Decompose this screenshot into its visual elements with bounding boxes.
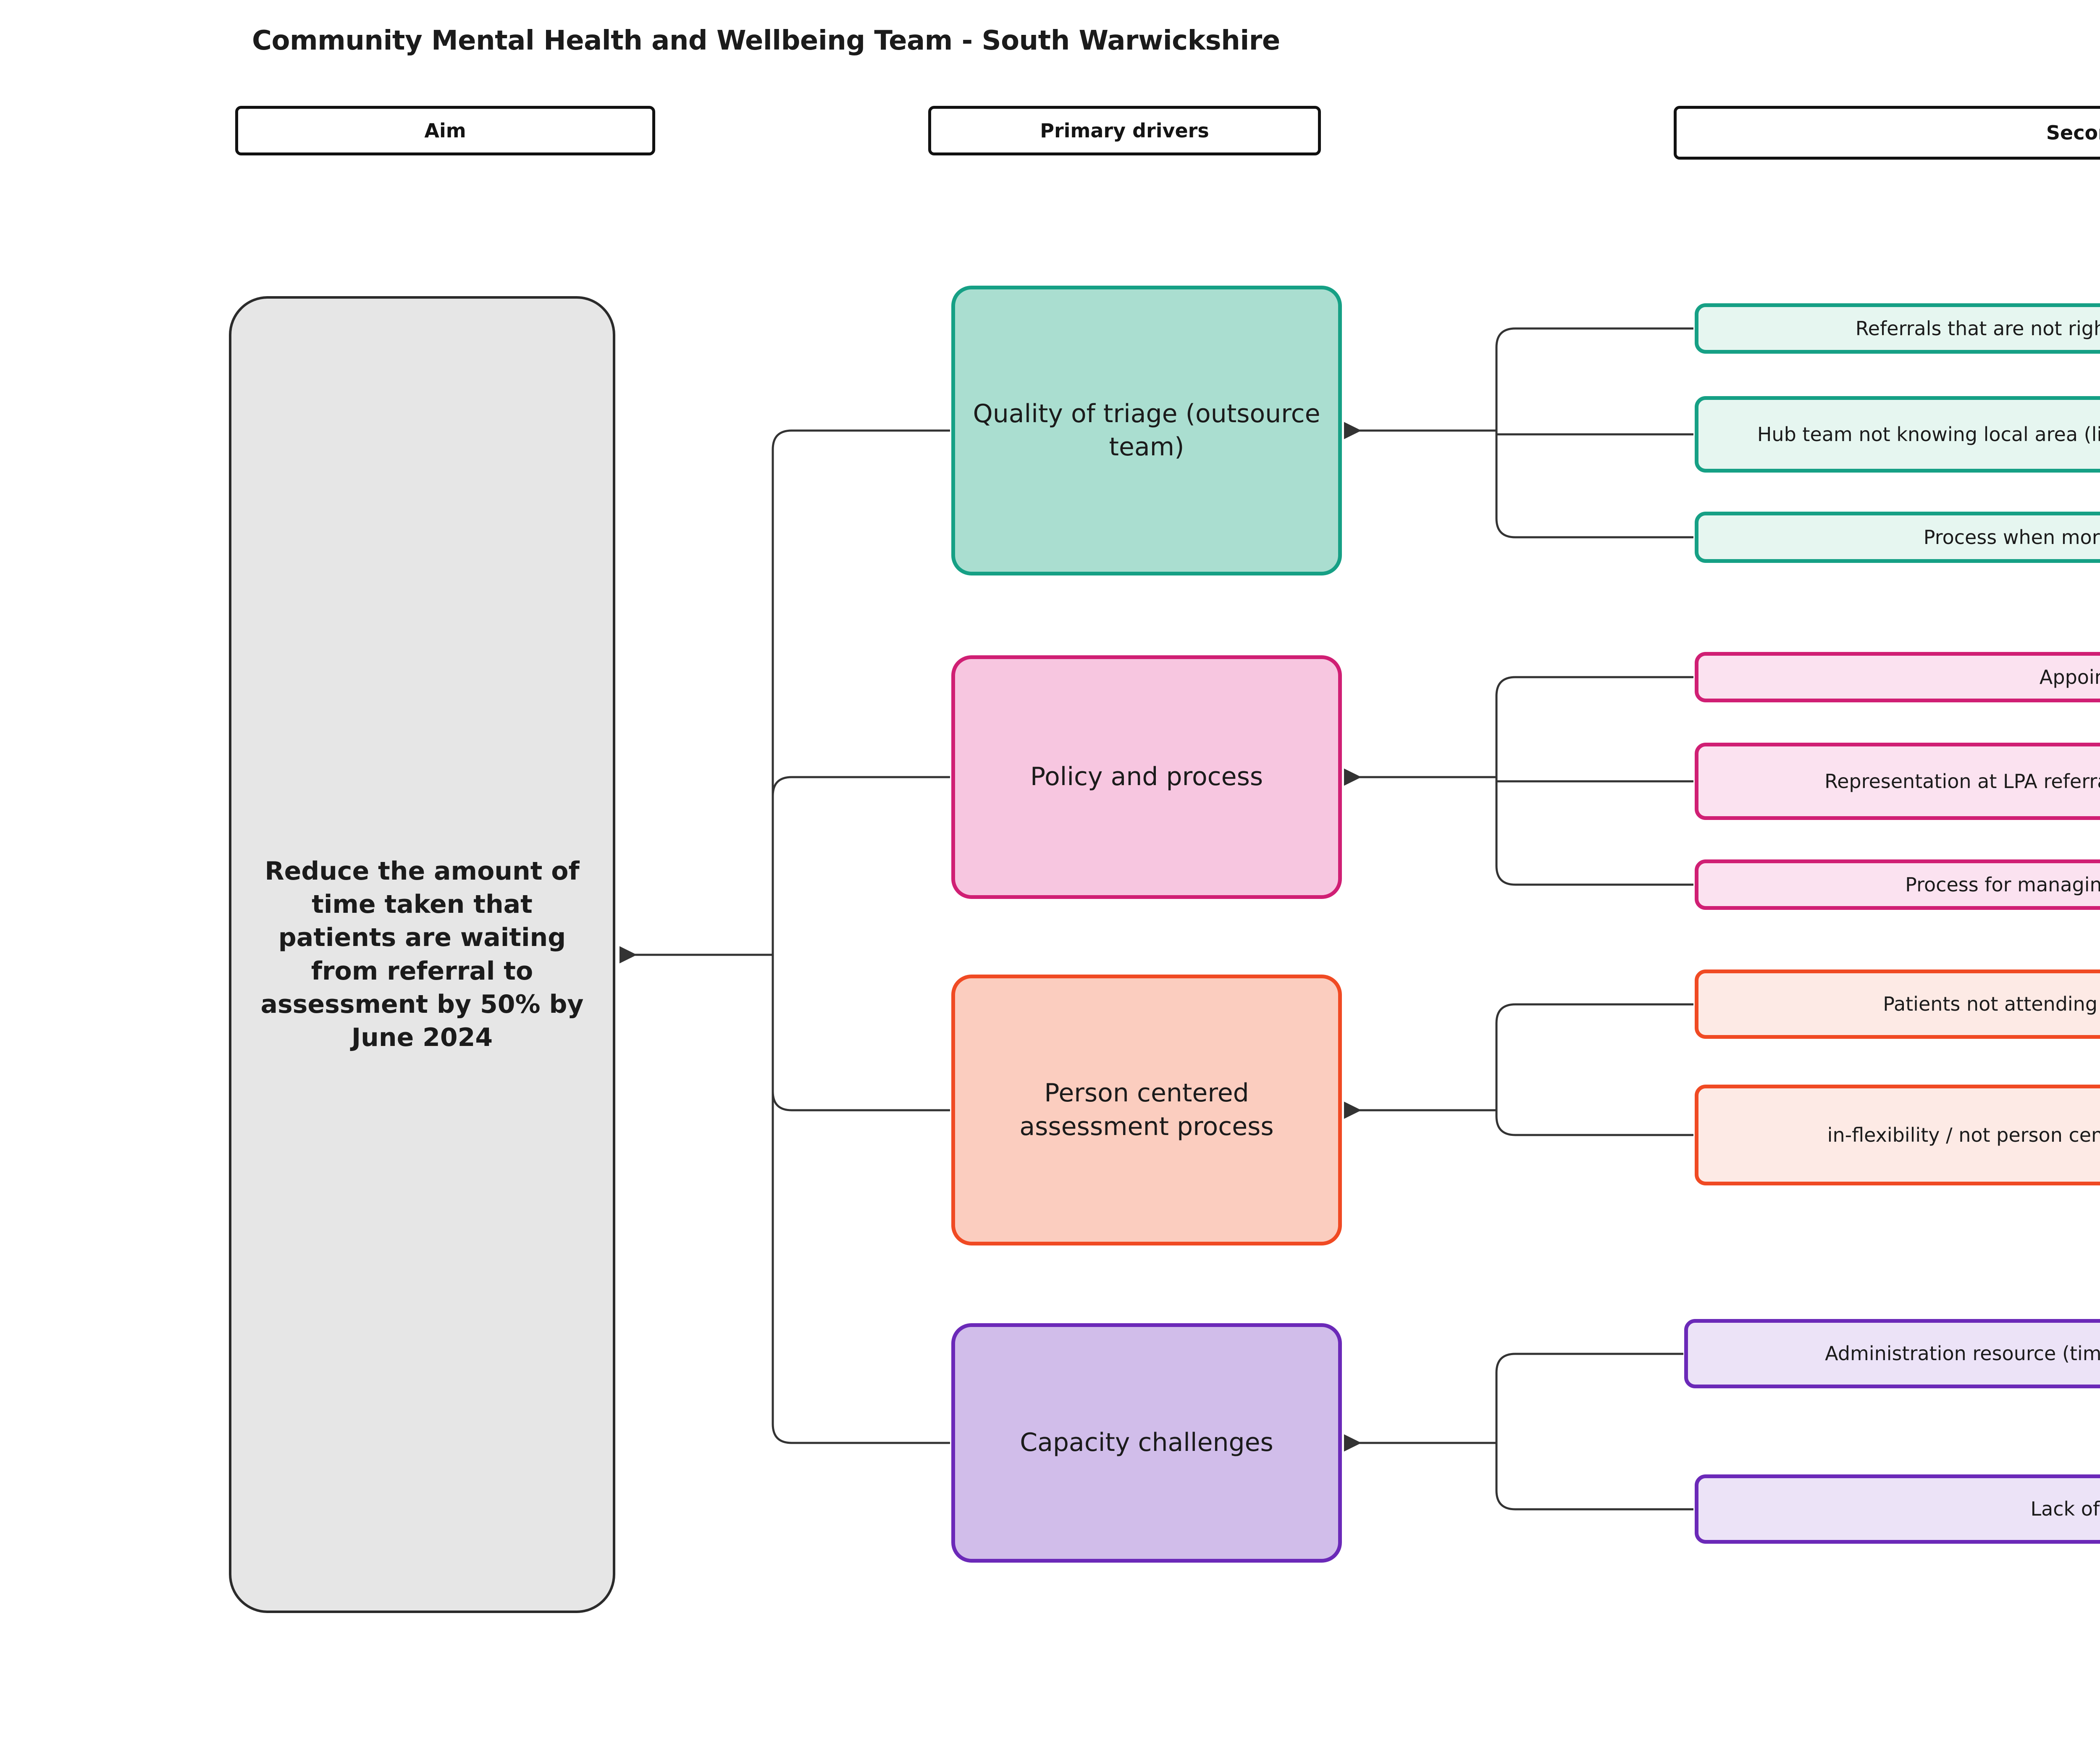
secondary-driver-label: Appointment letter info	[2040, 665, 2100, 690]
primary-driver-person-centered-assessment-process[interactable]: Person centered assessment process	[951, 975, 1342, 1245]
link-group-pink	[1344, 677, 1693, 885]
aim-node[interactable]: Reduce the amount of time taken that pat…	[229, 296, 615, 1613]
secondary-driver-label: Representation at LPA referrals meetings…	[1824, 769, 2100, 794]
secondary-driver-label: Lack of clinician resource	[2030, 1496, 2100, 1522]
primary-driver-label: Quality of triage (outsource team)	[969, 397, 1324, 464]
secondary-driver-label: Referrals that are not right for the ser…	[1856, 316, 2100, 342]
secondary-driver-hub-team-local-area[interactable]: Hub team not knowing local area (limited…	[1695, 396, 2100, 473]
secondary-driver-administration-resource[interactable]: Administration resource (time, availabil…	[1684, 1319, 2100, 1388]
link-group-orange	[1344, 1004, 1693, 1135]
secondary-driver-referrals-not-right[interactable]: Referrals that are not right for the ser…	[1695, 303, 2100, 354]
secondary-driver-appointment-communication-process[interactable]: Process for managing appointment communi…	[1695, 859, 2100, 910]
page-title: Community Mental Health and Wellbeing Te…	[252, 25, 1280, 56]
primary-driver-label: Person centered assessment process	[969, 1077, 1324, 1143]
link-aim-trunk	[619, 431, 950, 1443]
link-group-teal	[1344, 328, 1693, 537]
primary-driver-policy-and-process[interactable]: Policy and process	[951, 655, 1342, 899]
column-header-secondary-drivers: Secondary drivers	[1674, 106, 2100, 160]
secondary-driver-label: in-flexibility / not person centered app…	[1827, 1122, 2100, 1148]
driver-diagram-canvas: Community Mental Health and Wellbeing Te…	[0, 0, 2100, 1742]
secondary-driver-patients-dna[interactable]: Patients not attending assessment appoin…	[1695, 970, 2100, 1039]
primary-driver-quality-of-triage[interactable]: Quality of triage (outsource team)	[951, 286, 1342, 575]
secondary-driver-label: Process for managing appointment communi…	[1905, 872, 2100, 898]
secondary-driver-label: Administration resource (time, availabil…	[1825, 1341, 2100, 1366]
secondary-driver-process-more-info[interactable]: Process when more info is needed for a r…	[1695, 512, 2100, 563]
link-group-purple	[1344, 1354, 1693, 1509]
column-header-primary-drivers: Primary drivers	[928, 106, 1321, 155]
secondary-driver-lack-of-clinician-resource[interactable]: Lack of clinician resource	[1695, 1474, 2100, 1544]
secondary-driver-label: Patients not attending assessment appoin…	[1883, 991, 2100, 1017]
aim-node-label: Reduce the amount of time taken that pat…	[252, 855, 593, 1054]
secondary-driver-label: Hub team not knowing local area (limited…	[1757, 422, 2100, 447]
column-header-aim: Aim	[235, 106, 655, 155]
primary-driver-label: Policy and process	[1030, 760, 1263, 793]
primary-driver-label: Capacity challenges	[1020, 1426, 1273, 1459]
secondary-driver-label: Process when more info is needed for a r…	[1924, 525, 2100, 550]
secondary-driver-appointment-letter-info[interactable]: Appointment letter info	[1695, 652, 2100, 702]
primary-driver-capacity-challenges[interactable]: Capacity challenges	[951, 1323, 1342, 1563]
secondary-driver-inflexibility-assessment[interactable]: in-flexibility / not person centered app…	[1695, 1085, 2100, 1185]
secondary-driver-lpa-referrals-representation[interactable]: Representation at LPA referrals meetings…	[1695, 743, 2100, 820]
